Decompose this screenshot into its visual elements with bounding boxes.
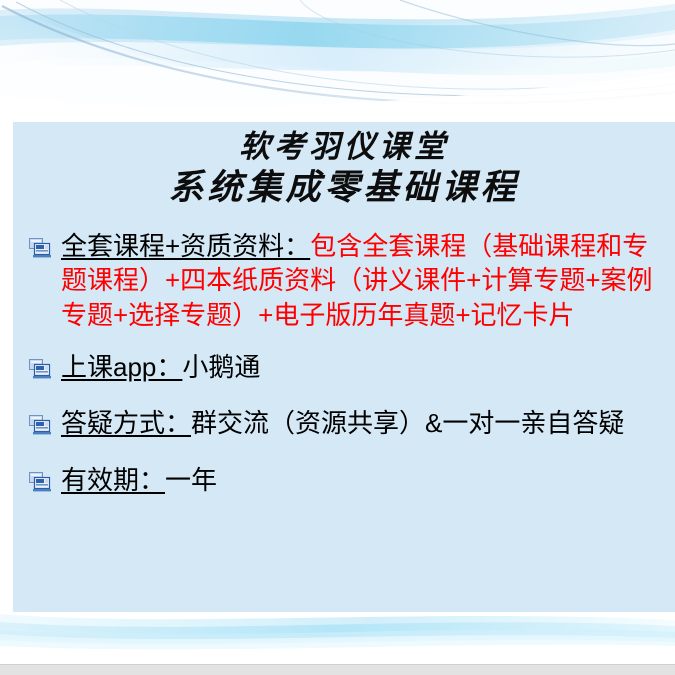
- list-item: 有效期：一年: [13, 463, 675, 497]
- slide-title: 软考羽仪课堂 系统集成零基础课程: [13, 122, 675, 205]
- presentation-monitor-icon: [29, 358, 51, 380]
- list-item-label: 有效期：: [61, 465, 165, 495]
- title-line-1: 软考羽仪课堂: [13, 132, 675, 163]
- list-item: 上课app：小鹅通: [13, 350, 675, 384]
- bottom-wave-graphic: [0, 612, 675, 664]
- top-wave-banner: [0, 0, 675, 122]
- bottom-wave-banner: [0, 612, 675, 664]
- list-item: 答疑方式：群交流（资源共享）&一对一亲自答疑: [13, 406, 675, 440]
- list-item-label: 上课app：: [61, 352, 182, 382]
- list-item-value: 群交流（资源共享）&一对一亲自答疑: [191, 408, 624, 438]
- list-item-label: 答疑方式：: [61, 408, 191, 438]
- presentation-monitor-icon: [29, 414, 51, 436]
- list-item-value: 小鹅通: [182, 352, 260, 382]
- list-item-text: 有效期：一年: [61, 463, 663, 497]
- bottom-status-strip: [0, 664, 675, 675]
- list-item-text: 答疑方式：群交流（资源共享）&一对一亲自答疑: [61, 406, 663, 440]
- list-item-label: 全套课程+资质资料：: [61, 231, 310, 261]
- presentation-monitor-icon: [29, 471, 51, 493]
- list-item-text: 上课app：小鹅通: [61, 350, 663, 384]
- slide-canvas: 软考羽仪课堂 系统集成零基础课程 全: [0, 0, 675, 675]
- list-item: 全套课程+资质资料：包含全套课程（基础课程和专题课程）+四本纸质资料（讲义课件+…: [13, 229, 675, 332]
- content-panel: 软考羽仪课堂 系统集成零基础课程 全: [13, 122, 675, 612]
- title-line-2: 系统集成零基础课程: [13, 170, 675, 205]
- top-wave-graphic: [0, 0, 675, 122]
- list-item-value: 一年: [165, 465, 217, 495]
- bullet-list: 全套课程+资质资料：包含全套课程（基础课程和专题课程）+四本纸质资料（讲义课件+…: [13, 229, 675, 497]
- presentation-monitor-icon: [29, 237, 51, 259]
- list-item-text: 全套课程+资质资料：包含全套课程（基础课程和专题课程）+四本纸质资料（讲义课件+…: [61, 229, 663, 332]
